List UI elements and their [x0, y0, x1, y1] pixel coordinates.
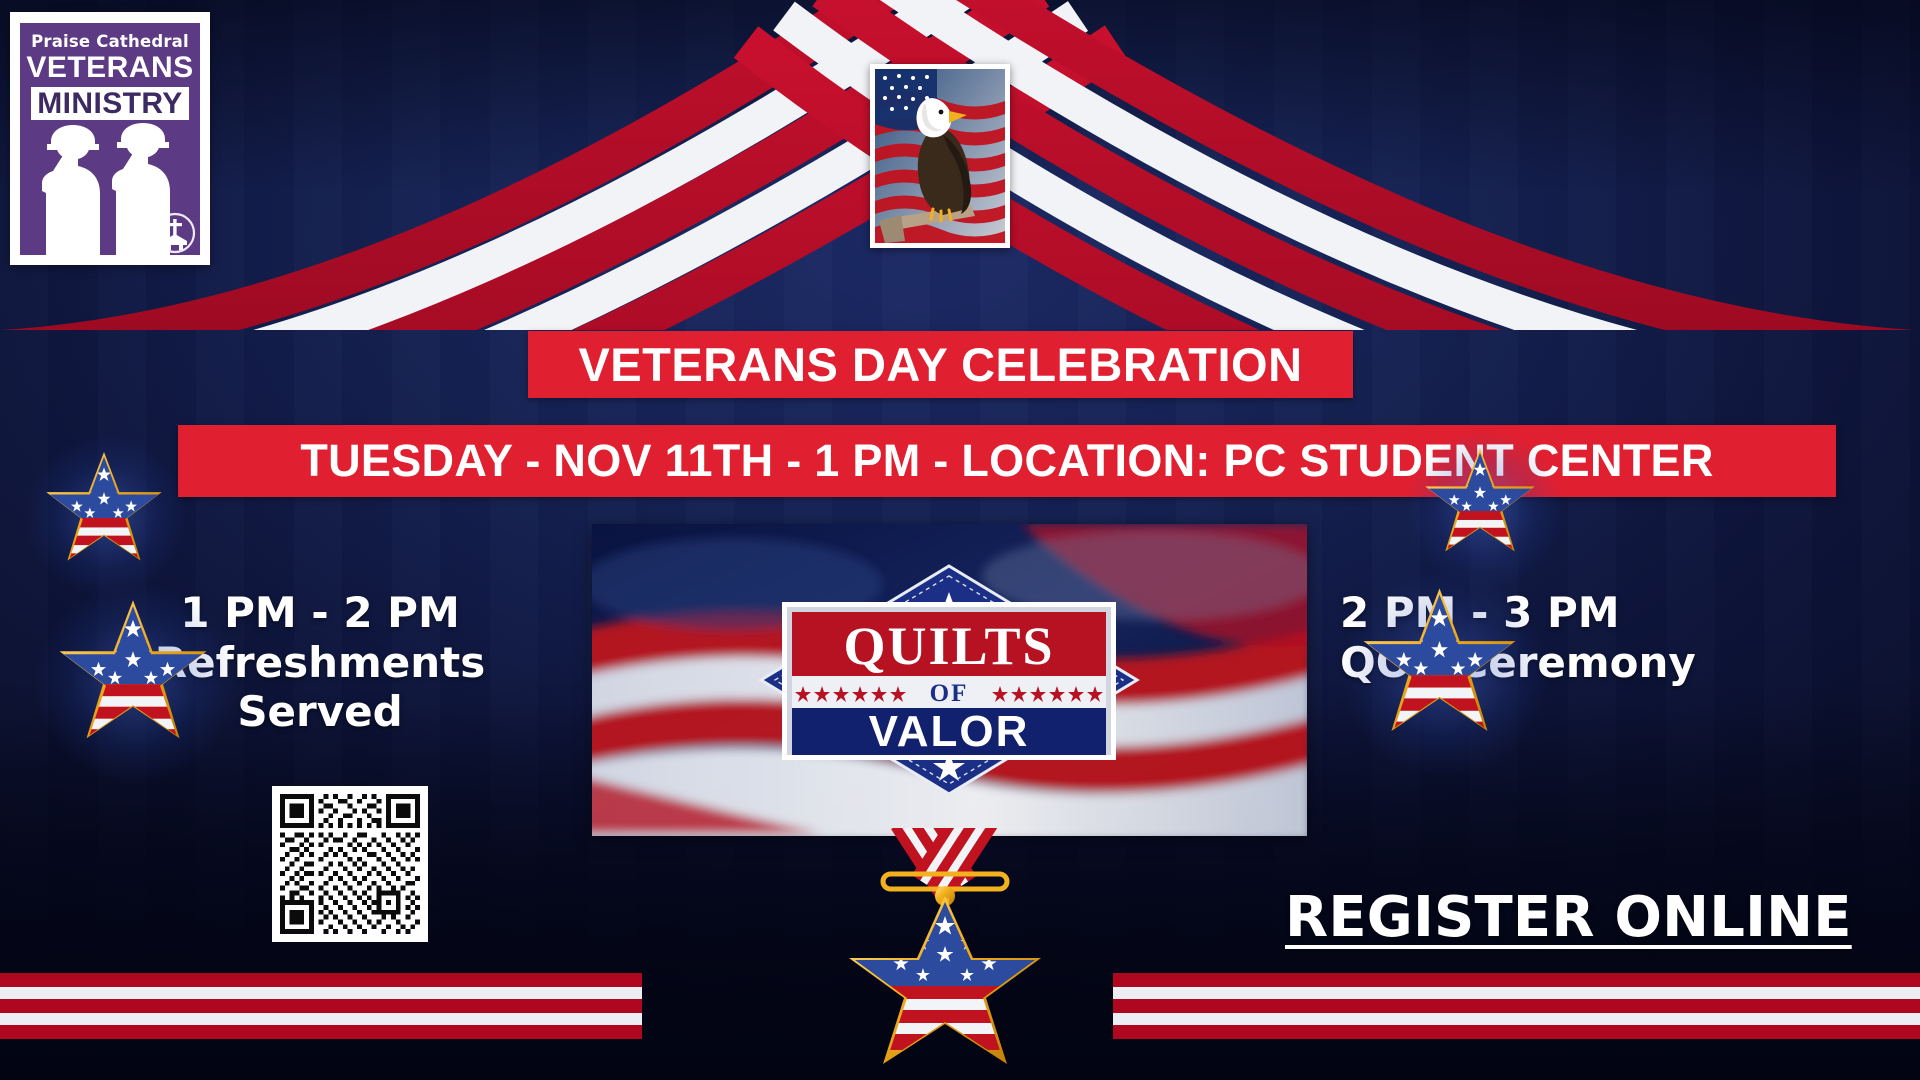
logo-line-ministry: MINISTRY: [31, 87, 189, 120]
date-location-banner: TUESDAY - NOV 11TH - 1 PM - LOCATION: PC…: [178, 425, 1836, 497]
star-top-right: [1424, 448, 1536, 555]
eagle-flag-photo: [870, 64, 1010, 248]
star-top-left: [45, 452, 163, 564]
star-bottom-right: [1362, 588, 1517, 736]
saluting-soldiers-icon: [20, 119, 200, 255]
bottom-stripe-bar-left: [0, 973, 642, 1039]
qov-word-of: OF: [930, 680, 969, 707]
star-medal-with-ribbon: [845, 828, 1045, 1080]
eagle-photo-content: [875, 69, 1005, 243]
qr-code-matrix: [280, 794, 420, 934]
page-title: VETERANS DAY CELEBRATION: [578, 337, 1302, 392]
star-bottom-left: [58, 600, 208, 743]
title-banner: VETERANS DAY CELEBRATION: [528, 331, 1353, 398]
logo-line-praise-cathedral: Praise Cathedral: [20, 32, 200, 51]
bottom-stripe-bar-right: [1113, 973, 1920, 1039]
qov-word-quilts: QUILTS: [843, 616, 1054, 676]
logo-line-veterans: VETERANS: [20, 51, 200, 85]
register-online-link[interactable]: REGISTER ONLINE: [1285, 885, 1852, 950]
quilts-of-valor-image: QUILTS OF: [592, 524, 1307, 836]
logo-ministry-box: MINISTRY: [31, 87, 189, 120]
qov-word-valor: VALOR: [869, 707, 1030, 756]
registration-qr-code[interactable]: [272, 786, 428, 942]
veterans-day-poster: Praise Cathedral VETERANS MINISTRY: [0, 0, 1920, 1080]
praise-cathedral-veterans-ministry-logo: Praise Cathedral VETERANS MINISTRY: [10, 12, 210, 265]
logo-inner-panel: Praise Cathedral VETERANS MINISTRY: [20, 23, 200, 255]
